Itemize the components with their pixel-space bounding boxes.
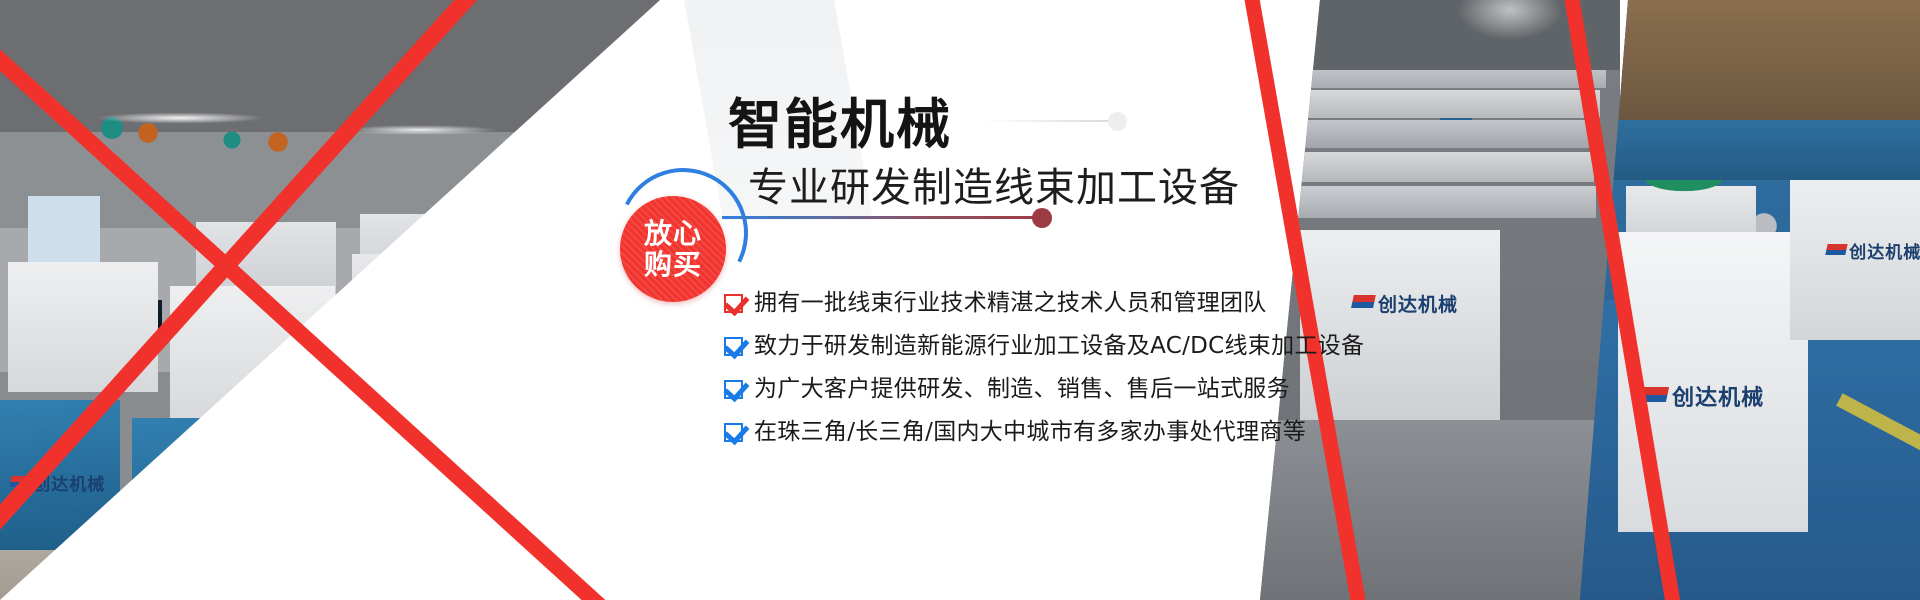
feature-text: 致力于研发制造新能源行业加工设备及AC/DC线束加工设备 [754, 335, 1364, 358]
machine-brand-mark: 创达机械 [1642, 380, 1764, 412]
machine-brand-mark: 创达机械 [1826, 238, 1920, 263]
feature-text: 在珠三角/长三角/国内大中城市有多家办事处代理商等 [754, 421, 1306, 444]
banner-subtitle: 专业研发制造线束加工设备 [748, 168, 1240, 208]
feature-list-item: 为广大客户提供研发、制造、销售、售后一站式服务 [724, 368, 1254, 411]
decorative-red-dot [1032, 208, 1052, 228]
factory-photo-right: 创达机械 创达机械 [1580, 0, 1920, 600]
feature-text: 为广大客户提供研发、制造、销售、售后一站式服务 [754, 378, 1290, 401]
machine-brand-label: 创达机械 [1672, 386, 1764, 411]
feature-list-item: 致力于研发制造新能源行业加工设备及AC/DC线束加工设备 [724, 325, 1254, 368]
banner-content: 智能机械 专业研发制造线束加工设备 放心 购买 拥有一批线束行业技术精湛之技术人… [596, 0, 1256, 600]
promo-banner: 创达机械 创达机械 创达机械 创达机械 创达机械 创达机械 智能机械 [0, 0, 1920, 600]
badge-line-2: 购买 [644, 249, 702, 280]
machine-brand-label: 创达机械 [1378, 294, 1458, 316]
banner-title: 智能机械 [728, 98, 952, 152]
company-logo-icon [164, 497, 189, 514]
feature-text: 拥有一批线束行业技术精湛之技术人员和管理团队 [754, 292, 1267, 315]
feature-list-item: 在珠三角/长三角/国内大中城市有多家办事处代理商等 [724, 411, 1254, 454]
decorative-gradient-line [722, 216, 1040, 219]
machine-brand-label: 创达机械 [192, 496, 272, 518]
decorative-gray-line [982, 120, 1112, 122]
factory-photo-right-image [1580, 0, 1920, 600]
feature-list: 拥有一批线束行业技术精湛之技术人员和管理团队 致力于研发制造新能源行业加工设备及… [724, 282, 1254, 454]
decorative-gray-dot [1108, 112, 1127, 131]
company-logo-icon [1824, 244, 1847, 259]
factory-photo-left: 创达机械 创达机械 创达机械 [0, 0, 700, 600]
badge-line-1: 放心 [644, 218, 702, 249]
machine-brand-mark: 创达机械 [166, 492, 272, 519]
factory-photo-left-image [0, 0, 700, 600]
assurance-badge: 放心 购买 [620, 196, 726, 302]
checkbox-checked-icon [724, 380, 743, 399]
company-logo-icon [1350, 295, 1375, 312]
checkbox-checked-icon [724, 294, 743, 313]
checkbox-checked-icon [724, 423, 743, 442]
feature-list-item: 拥有一批线束行业技术精湛之技术人员和管理团队 [724, 282, 1254, 325]
machine-brand-label: 创达机械 [443, 565, 515, 585]
machine-brand-label: 创达机械 [1849, 243, 1920, 263]
machine-brand-mark: 创达机械 [1352, 290, 1458, 317]
factory-photo-middle: 创达机械 [1260, 0, 1620, 600]
checkbox-checked-icon [724, 337, 743, 356]
machine-brand-mark: 创达机械 [420, 560, 515, 585]
company-logo-icon [418, 566, 441, 581]
